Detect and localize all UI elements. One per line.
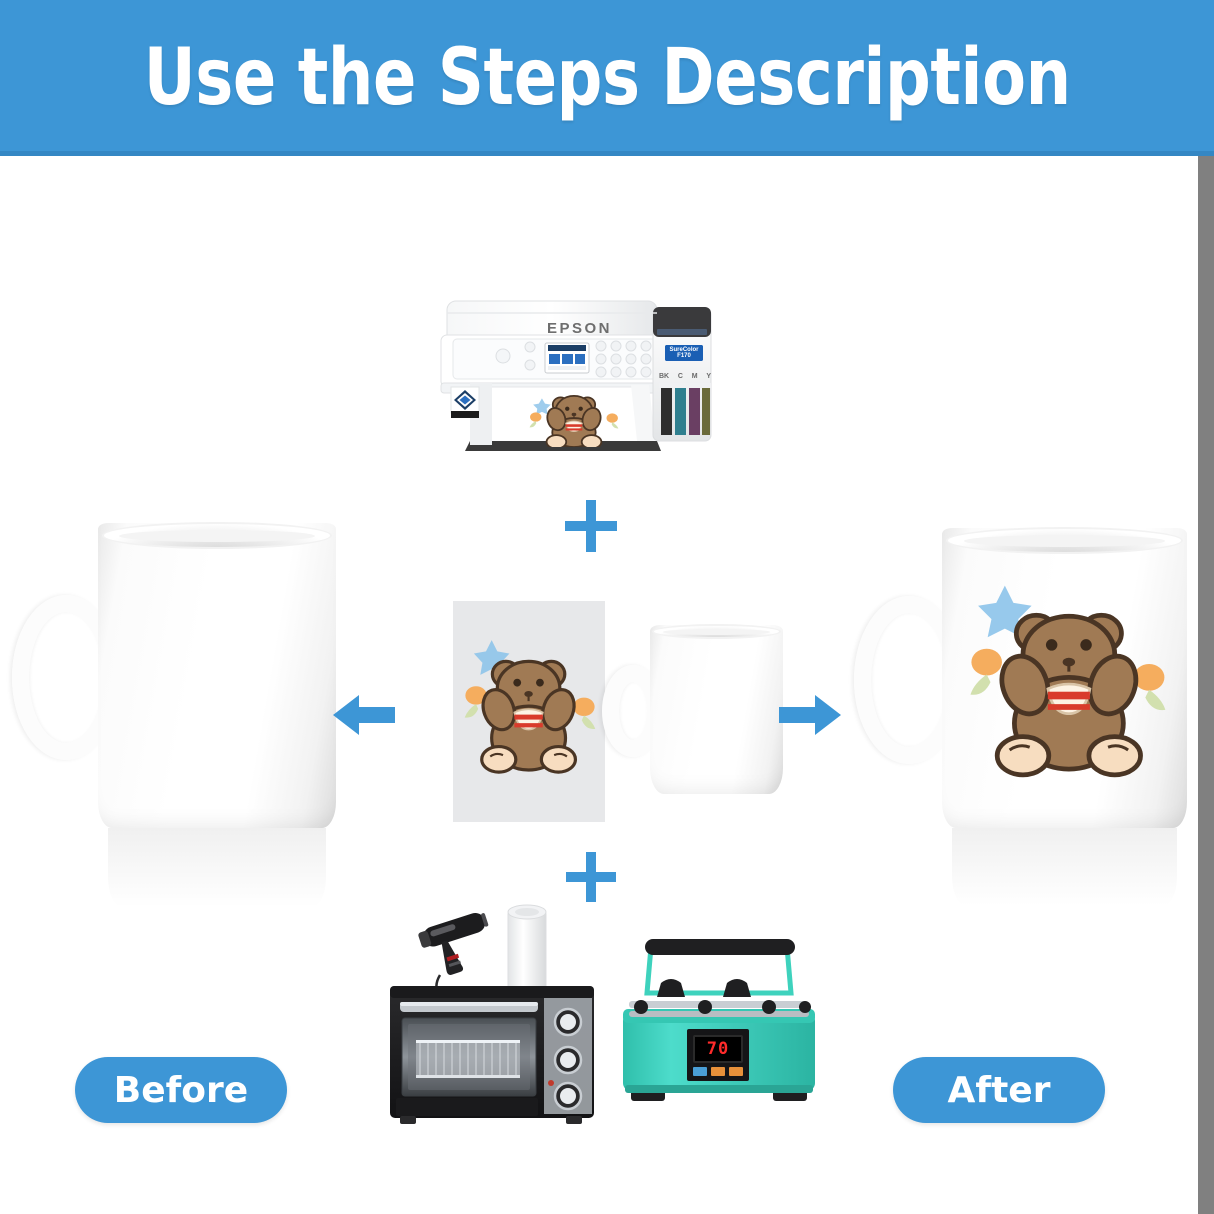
mug-rim-right: [946, 527, 1184, 554]
badge-after[interactable]: After: [893, 1057, 1105, 1123]
header-banner: Use the Steps Description: [0, 0, 1214, 156]
printer-model-line2: F170: [677, 353, 691, 359]
badge-before[interactable]: Before: [75, 1057, 287, 1123]
blank-mug-left: [98, 523, 336, 828]
ink-label-bk: BK: [659, 373, 669, 380]
plus-bar-vertical-2: [586, 852, 596, 902]
transfer-paper-bear-art: [459, 630, 601, 790]
heat-press-temperature-display: 70: [693, 1035, 743, 1063]
printer-brand-label: EPSON: [547, 320, 612, 337]
printed-sheet-bear-art: [520, 385, 630, 447]
badge-after-label: After: [948, 1070, 1051, 1111]
printer-model-badge: SureColor F170: [665, 345, 703, 361]
mug-printed-bear-art: [955, 578, 1177, 793]
ink-label-c: C: [678, 373, 683, 380]
arrow-left-icon: [333, 690, 395, 740]
ink-label-y: Y: [706, 373, 711, 380]
arrow-right-icon: [779, 690, 841, 740]
infographic-canvas: Use the Steps Description: [0, 0, 1214, 1214]
sublimation-printer: EPSON SureColor F170 BK C M Y: [425, 283, 735, 478]
mug-reflection-right: [952, 828, 1177, 906]
right-edge-bar: [1198, 156, 1214, 1214]
plus-icon-bottom: [566, 852, 616, 902]
mug-body-left: [98, 523, 336, 828]
blank-mug-middle: [650, 625, 783, 794]
heat-press-temperature-value: 70: [707, 1039, 729, 1059]
plus-icon-top: [565, 500, 617, 552]
page-title: Use the Steps Description: [144, 33, 1071, 123]
tumbler-heat-press: 70: [605, 925, 831, 1125]
ink-tank-labels: BK C M Y: [659, 373, 711, 380]
plus-bar-vertical: [586, 500, 596, 552]
ink-label-m: M: [692, 373, 698, 380]
mug-reflection-left: [108, 828, 327, 907]
mug-body-middle: [650, 625, 783, 794]
badge-before-label: Before: [114, 1070, 248, 1111]
convection-oven: [388, 980, 596, 1128]
